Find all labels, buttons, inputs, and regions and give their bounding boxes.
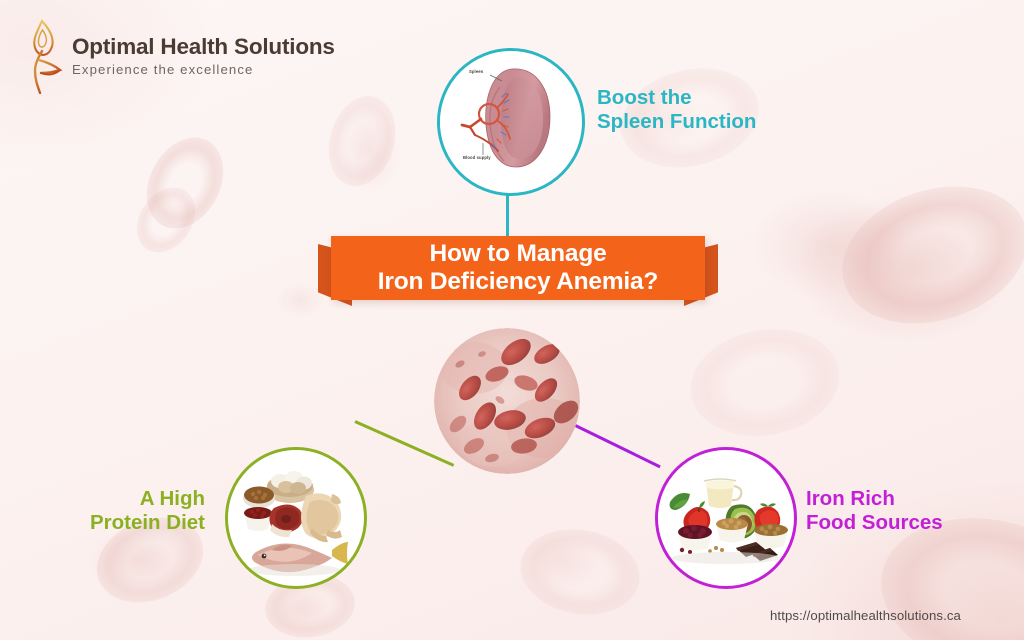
red-blood-cells-circle-icon <box>434 328 580 474</box>
node-spleen[interactable]: Spleen Blood supply <box>437 48 585 196</box>
node-label-protein-diet: A High Protein Diet <box>60 487 205 535</box>
high-protein-foods-photo-icon <box>228 450 364 586</box>
background-cell <box>125 176 207 263</box>
node-iron-rich-foods[interactable] <box>655 447 797 589</box>
iron-rich-foods-photo-icon <box>658 450 794 586</box>
node-center-blood-cells <box>434 328 580 474</box>
node-label-protein-line1: A High <box>60 487 205 511</box>
spleen-organ-illustration-icon: Spleen Blood supply <box>440 51 582 193</box>
background-cell <box>682 318 848 447</box>
title-banner: How to Manage Iron Deficiency Anemia? <box>318 228 718 318</box>
node-label-iron-line2: Food Sources <box>806 511 943 535</box>
node-label-protein-line2: Protein Diet <box>60 511 205 535</box>
node-label-spleen: Boost the Spleen Function <box>597 86 756 134</box>
banner-title-line1: How to Manage <box>429 240 606 268</box>
banner-body: How to Manage Iron Deficiency Anemia? <box>331 236 705 300</box>
infographic-canvas: Optimal Health Solutions Experience the … <box>0 0 1024 640</box>
brand-title: Optimal Health Solutions <box>72 35 335 60</box>
background-cell <box>514 520 647 624</box>
spleen-art-label-organ: Spleen <box>469 69 483 74</box>
node-label-iron-rich-foods: Iron Rich Food Sources <box>806 487 943 535</box>
brand-logo[interactable]: Optimal Health Solutions Experience the … <box>22 18 335 94</box>
spleen-art-label-vessel: Blood supply <box>463 155 491 160</box>
footer-url[interactable]: https://optimalhealthsolutions.ca <box>770 608 961 623</box>
background-cell <box>132 124 239 242</box>
node-label-spleen-line1: Boost the <box>597 86 756 110</box>
background-cell <box>825 164 1024 346</box>
node-protein-diet[interactable] <box>225 447 367 589</box>
brand-tagline: Experience the excellence <box>72 63 335 78</box>
flame-figure-logo-icon <box>22 18 66 94</box>
connector-center-to-iron <box>562 418 660 468</box>
banner-title-line2: Iron Deficiency Anemia? <box>378 268 658 296</box>
node-label-spleen-line2: Spleen Function <box>597 110 756 134</box>
background-cell <box>319 88 406 194</box>
node-label-iron-line1: Iron Rich <box>806 487 943 511</box>
